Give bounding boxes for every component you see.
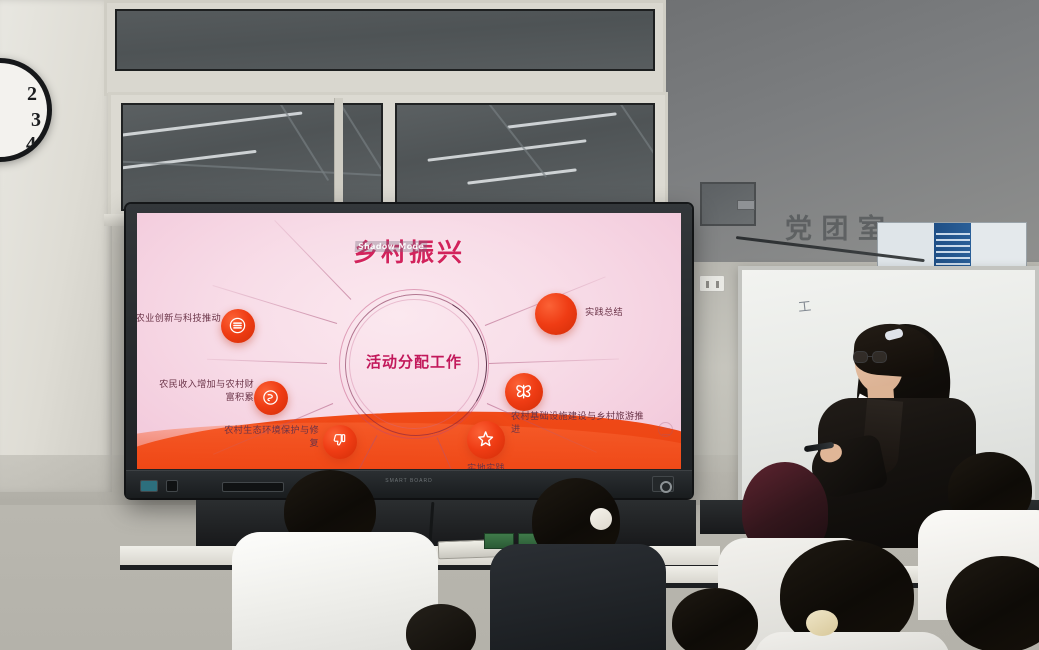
window-transom-glass: [115, 9, 655, 71]
star-burst-icon: [475, 429, 496, 450]
display-screen[interactable]: 乡村振兴 Shadow Mode 活动分配工作: [137, 213, 681, 469]
spoke-line: [489, 358, 619, 364]
hair-accessory: [806, 610, 838, 636]
classroom-presentation-photo: 2 3 4 党 团 室 工: [0, 0, 1039, 650]
presentation-slide: 乡村振兴 Shadow Mode 活动分配工作: [137, 213, 681, 469]
slide-node-5-label: 农村基础设施建设与乡村旅游推进: [511, 411, 653, 436]
slide-node-2-label: 农民收入增加与农村财富积累: [159, 379, 254, 404]
slide-node-1-label: 农业创新与科技推动: [137, 313, 221, 326]
slide-node-1[interactable]: [221, 309, 255, 343]
slide-center-hub: 活动分配工作: [339, 289, 489, 439]
slide-node-2[interactable]: [254, 381, 288, 415]
display-brand-mark: SMART BOARD: [385, 478, 433, 484]
slide-node-6[interactable]: [535, 293, 577, 335]
window-pane-right: [395, 103, 655, 211]
window-transom: [104, 0, 666, 96]
power-button[interactable]: [652, 476, 674, 492]
slide-node-3-label: 农村生态环境保护与修复: [221, 425, 319, 450]
spoke-line: [207, 359, 327, 364]
clock-numeral-2: 2: [27, 83, 37, 106]
slide-node-4-label: 实地实践: [443, 463, 529, 469]
slide-center-label: 活动分配工作: [339, 351, 489, 372]
slide-corner-logo: [658, 422, 673, 437]
cabinet-label: [737, 200, 755, 210]
gear-wheel-icon: [228, 316, 247, 335]
clock-numeral-3: 3: [31, 109, 41, 132]
wall-outlet: [699, 275, 725, 292]
slide-node-6-label: 实践总结: [585, 307, 673, 320]
thumbs-down-icon: [330, 432, 349, 451]
eyeglasses-icon: [853, 351, 891, 363]
coin-money-icon: [261, 388, 280, 407]
hair-scrunchie: [590, 508, 612, 530]
slide-watermark: Shadow Mode: [355, 241, 428, 252]
window-pane-left: [121, 103, 383, 211]
window-frame: [108, 92, 668, 220]
slide-node-5[interactable]: [505, 373, 543, 411]
plain-circle-icon: [544, 302, 568, 326]
wall-sign-text: 党 团 室: [785, 207, 885, 246]
interactive-display[interactable]: 乡村振兴 Shadow Mode 活动分配工作: [126, 204, 692, 498]
clock-numeral-4: 4: [26, 133, 36, 156]
butterfly-icon: [513, 381, 534, 402]
vent-slot: [222, 482, 284, 492]
window-mullion: [334, 98, 343, 216]
whiteboard-note: 工: [797, 295, 812, 315]
slide-node-3[interactable]: [323, 425, 357, 459]
slide-node-4[interactable]: [467, 421, 505, 459]
power-port[interactable]: [166, 480, 178, 492]
usb-port[interactable]: [140, 480, 158, 492]
